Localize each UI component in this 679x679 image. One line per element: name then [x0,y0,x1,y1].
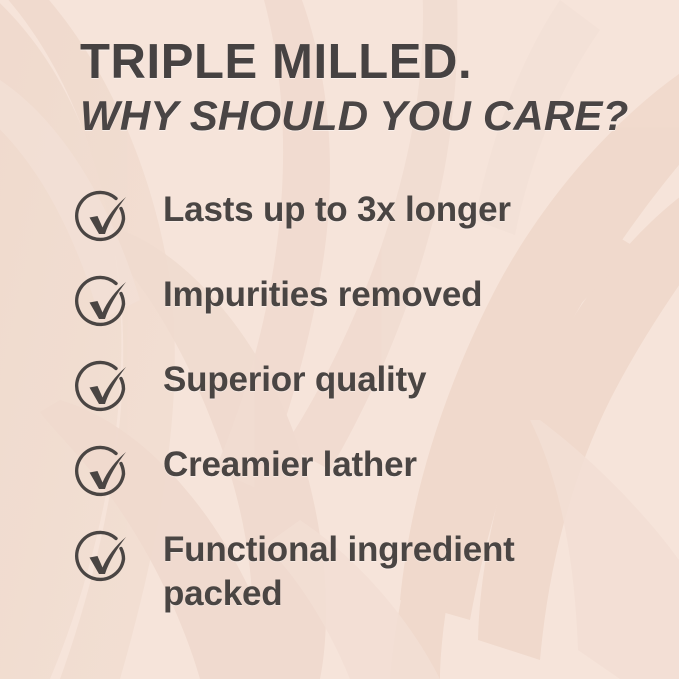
page-title: TRIPLE MILLED. [80,38,660,87]
poster-content: TRIPLE MILLED. WHY SHOULD YOU CARE? Last… [0,0,679,679]
benefit-label: Impurities removed [163,273,482,317]
list-item: Impurities removed [0,271,679,356]
benefit-label: Superior quality [163,358,426,402]
check-circle-icon [72,273,134,335]
check-circle-icon [72,358,134,420]
benefit-label: Creamier lather [163,443,417,487]
benefit-label: Lasts up to 3x longer [163,188,511,232]
list-item: Superior quality [0,356,679,441]
benefit-label: Functional ingredient packed [163,528,593,616]
check-circle-icon [72,443,134,505]
check-circle-icon [72,188,134,250]
benefit-list: Lasts up to 3x longer Impurities removed… [0,186,679,611]
page-subtitle: WHY SHOULD YOU CARE? [80,87,660,137]
triple-milled-infographic: TRIPLE MILLED. WHY SHOULD YOU CARE? Last… [0,0,679,679]
list-item: Functional ingredient packed [0,526,679,611]
headline-block: TRIPLE MILLED. WHY SHOULD YOU CARE? [80,38,660,137]
list-item: Creamier lather [0,441,679,526]
list-item: Lasts up to 3x longer [0,186,679,271]
check-circle-icon [72,528,134,590]
